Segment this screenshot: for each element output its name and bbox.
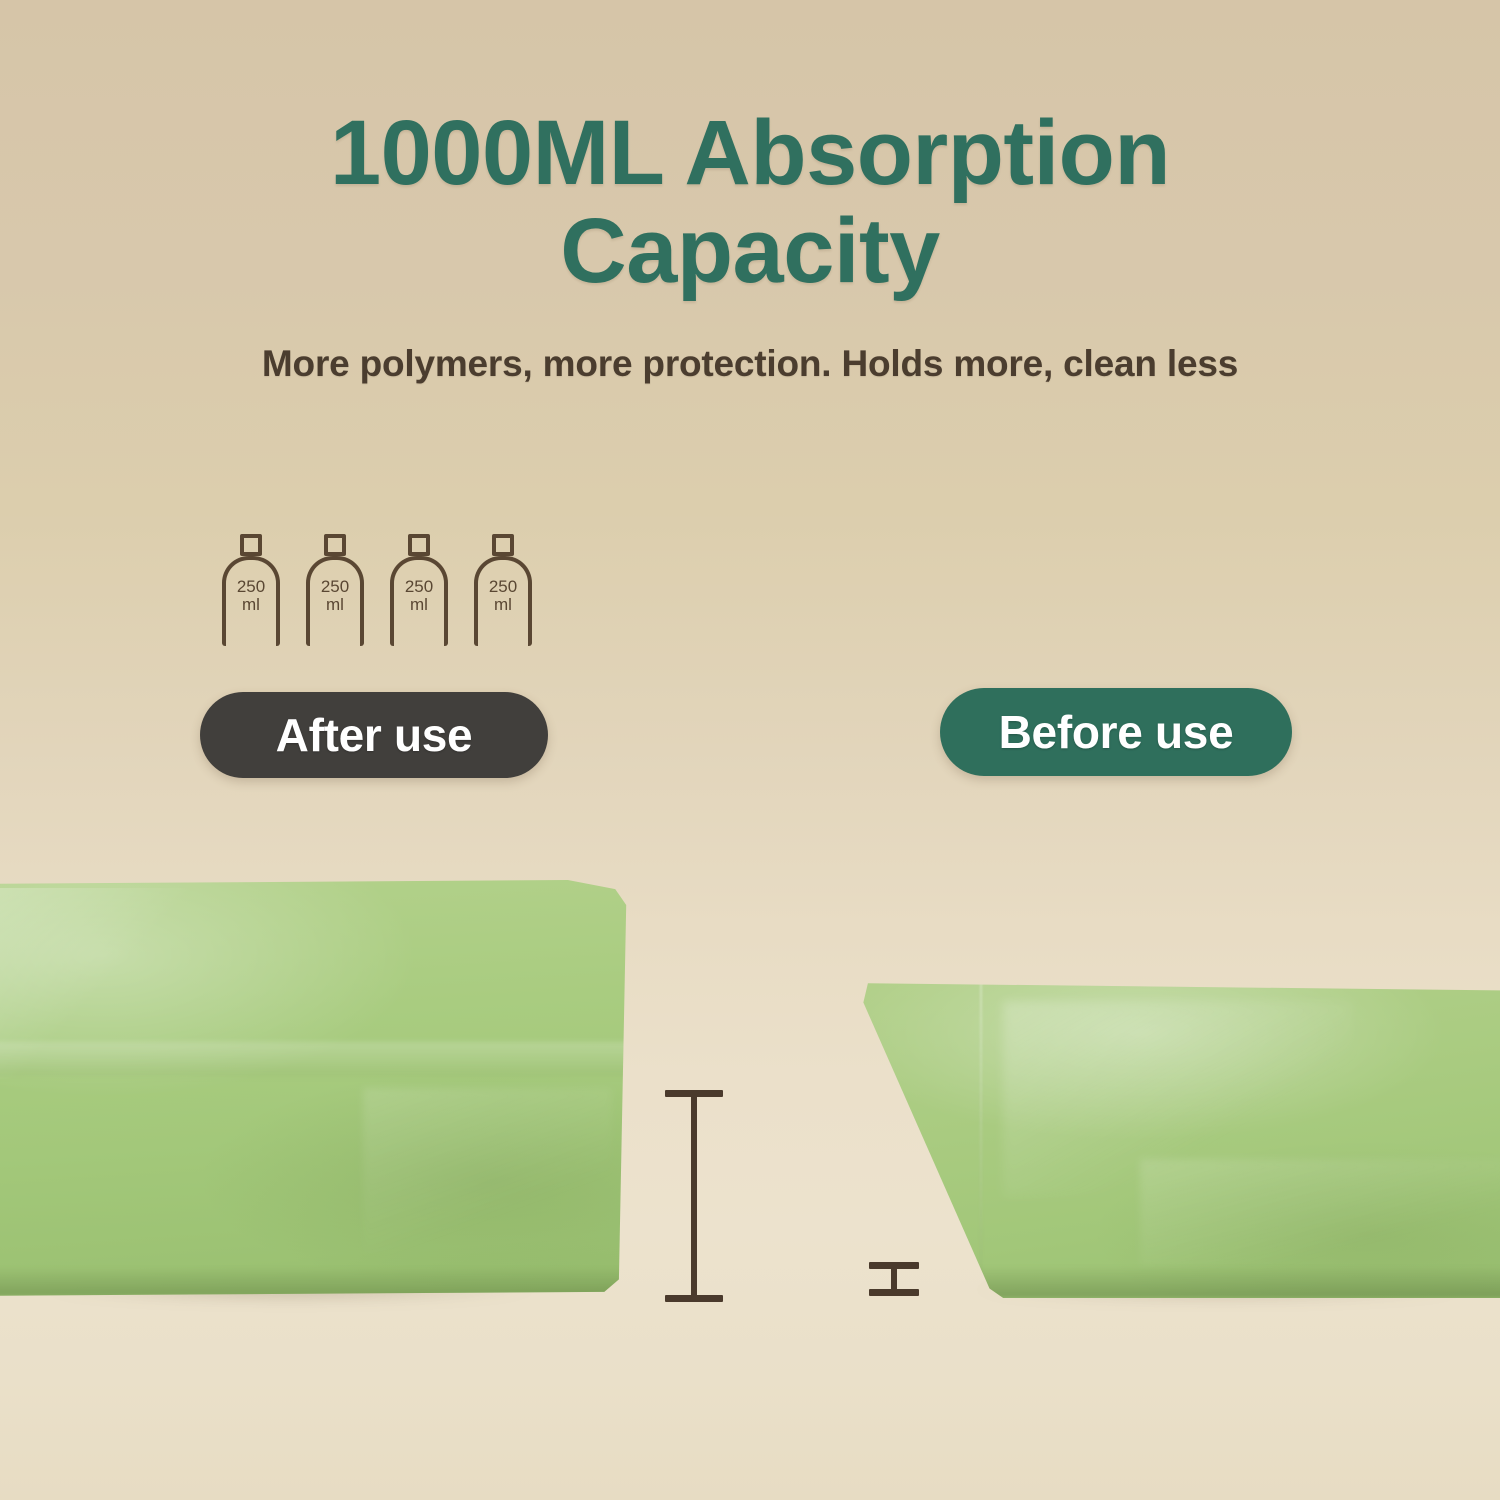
bottle-icon: 250 ml	[306, 534, 364, 646]
caliper-stem	[691, 1090, 697, 1302]
bottle-volume-amount: 250	[237, 577, 265, 596]
thin-pad-before-use	[836, 982, 1500, 1298]
bottle-icon: 250 ml	[474, 534, 532, 646]
page-subtitle: More polymers, more protection. Holds mo…	[0, 343, 1500, 385]
height-measure-short-icon	[866, 1262, 922, 1296]
caliper-bottom-cap	[665, 1295, 723, 1302]
bottle-cap-icon	[492, 534, 514, 556]
bottle-volume-label: 250 ml	[222, 578, 280, 614]
page-title: 1000ML Absorption Capacity	[0, 104, 1500, 301]
height-measure-tall-icon	[660, 1090, 728, 1302]
bottle-icon: 250 ml	[222, 534, 280, 646]
pad-fold-line	[980, 982, 982, 1298]
caliper-bottom-cap	[869, 1289, 919, 1296]
bottle-volume-amount: 250	[321, 577, 349, 596]
bottle-volume-unit: ml	[390, 596, 448, 614]
bottle-icon: 250 ml	[390, 534, 448, 646]
headline-block: 1000ML Absorption Capacity More polymers…	[0, 104, 1500, 385]
pad-crease	[1140, 1159, 1500, 1266]
thick-pad-after-use	[0, 880, 670, 1296]
bottle-volume-unit: ml	[306, 596, 364, 614]
bottle-volume-unit: ml	[222, 596, 280, 614]
bottle-volume-label: 250 ml	[390, 578, 448, 614]
product-feature-banner: 1000ML Absorption Capacity More polymers…	[0, 0, 1500, 1500]
bottle-cap-icon	[240, 534, 262, 556]
badge-before-use: Before use	[940, 688, 1292, 776]
pad-bottom-edge	[0, 1267, 670, 1296]
badge-after-use: After use	[200, 692, 548, 778]
bottle-cap-icon	[324, 534, 346, 556]
bottle-volume-label: 250 ml	[306, 578, 364, 614]
bottle-volume-amount: 250	[489, 577, 517, 596]
pad-crease	[0, 1042, 670, 1075]
bottle-volume-label: 250 ml	[474, 578, 532, 614]
bottle-cap-icon	[408, 534, 430, 556]
pad-crease	[363, 1088, 611, 1254]
bottle-volume-amount: 250	[405, 577, 433, 596]
capacity-bottle-group: 250 ml 250 ml 250 ml 250 ml	[222, 534, 532, 646]
bottle-volume-unit: ml	[474, 596, 532, 614]
